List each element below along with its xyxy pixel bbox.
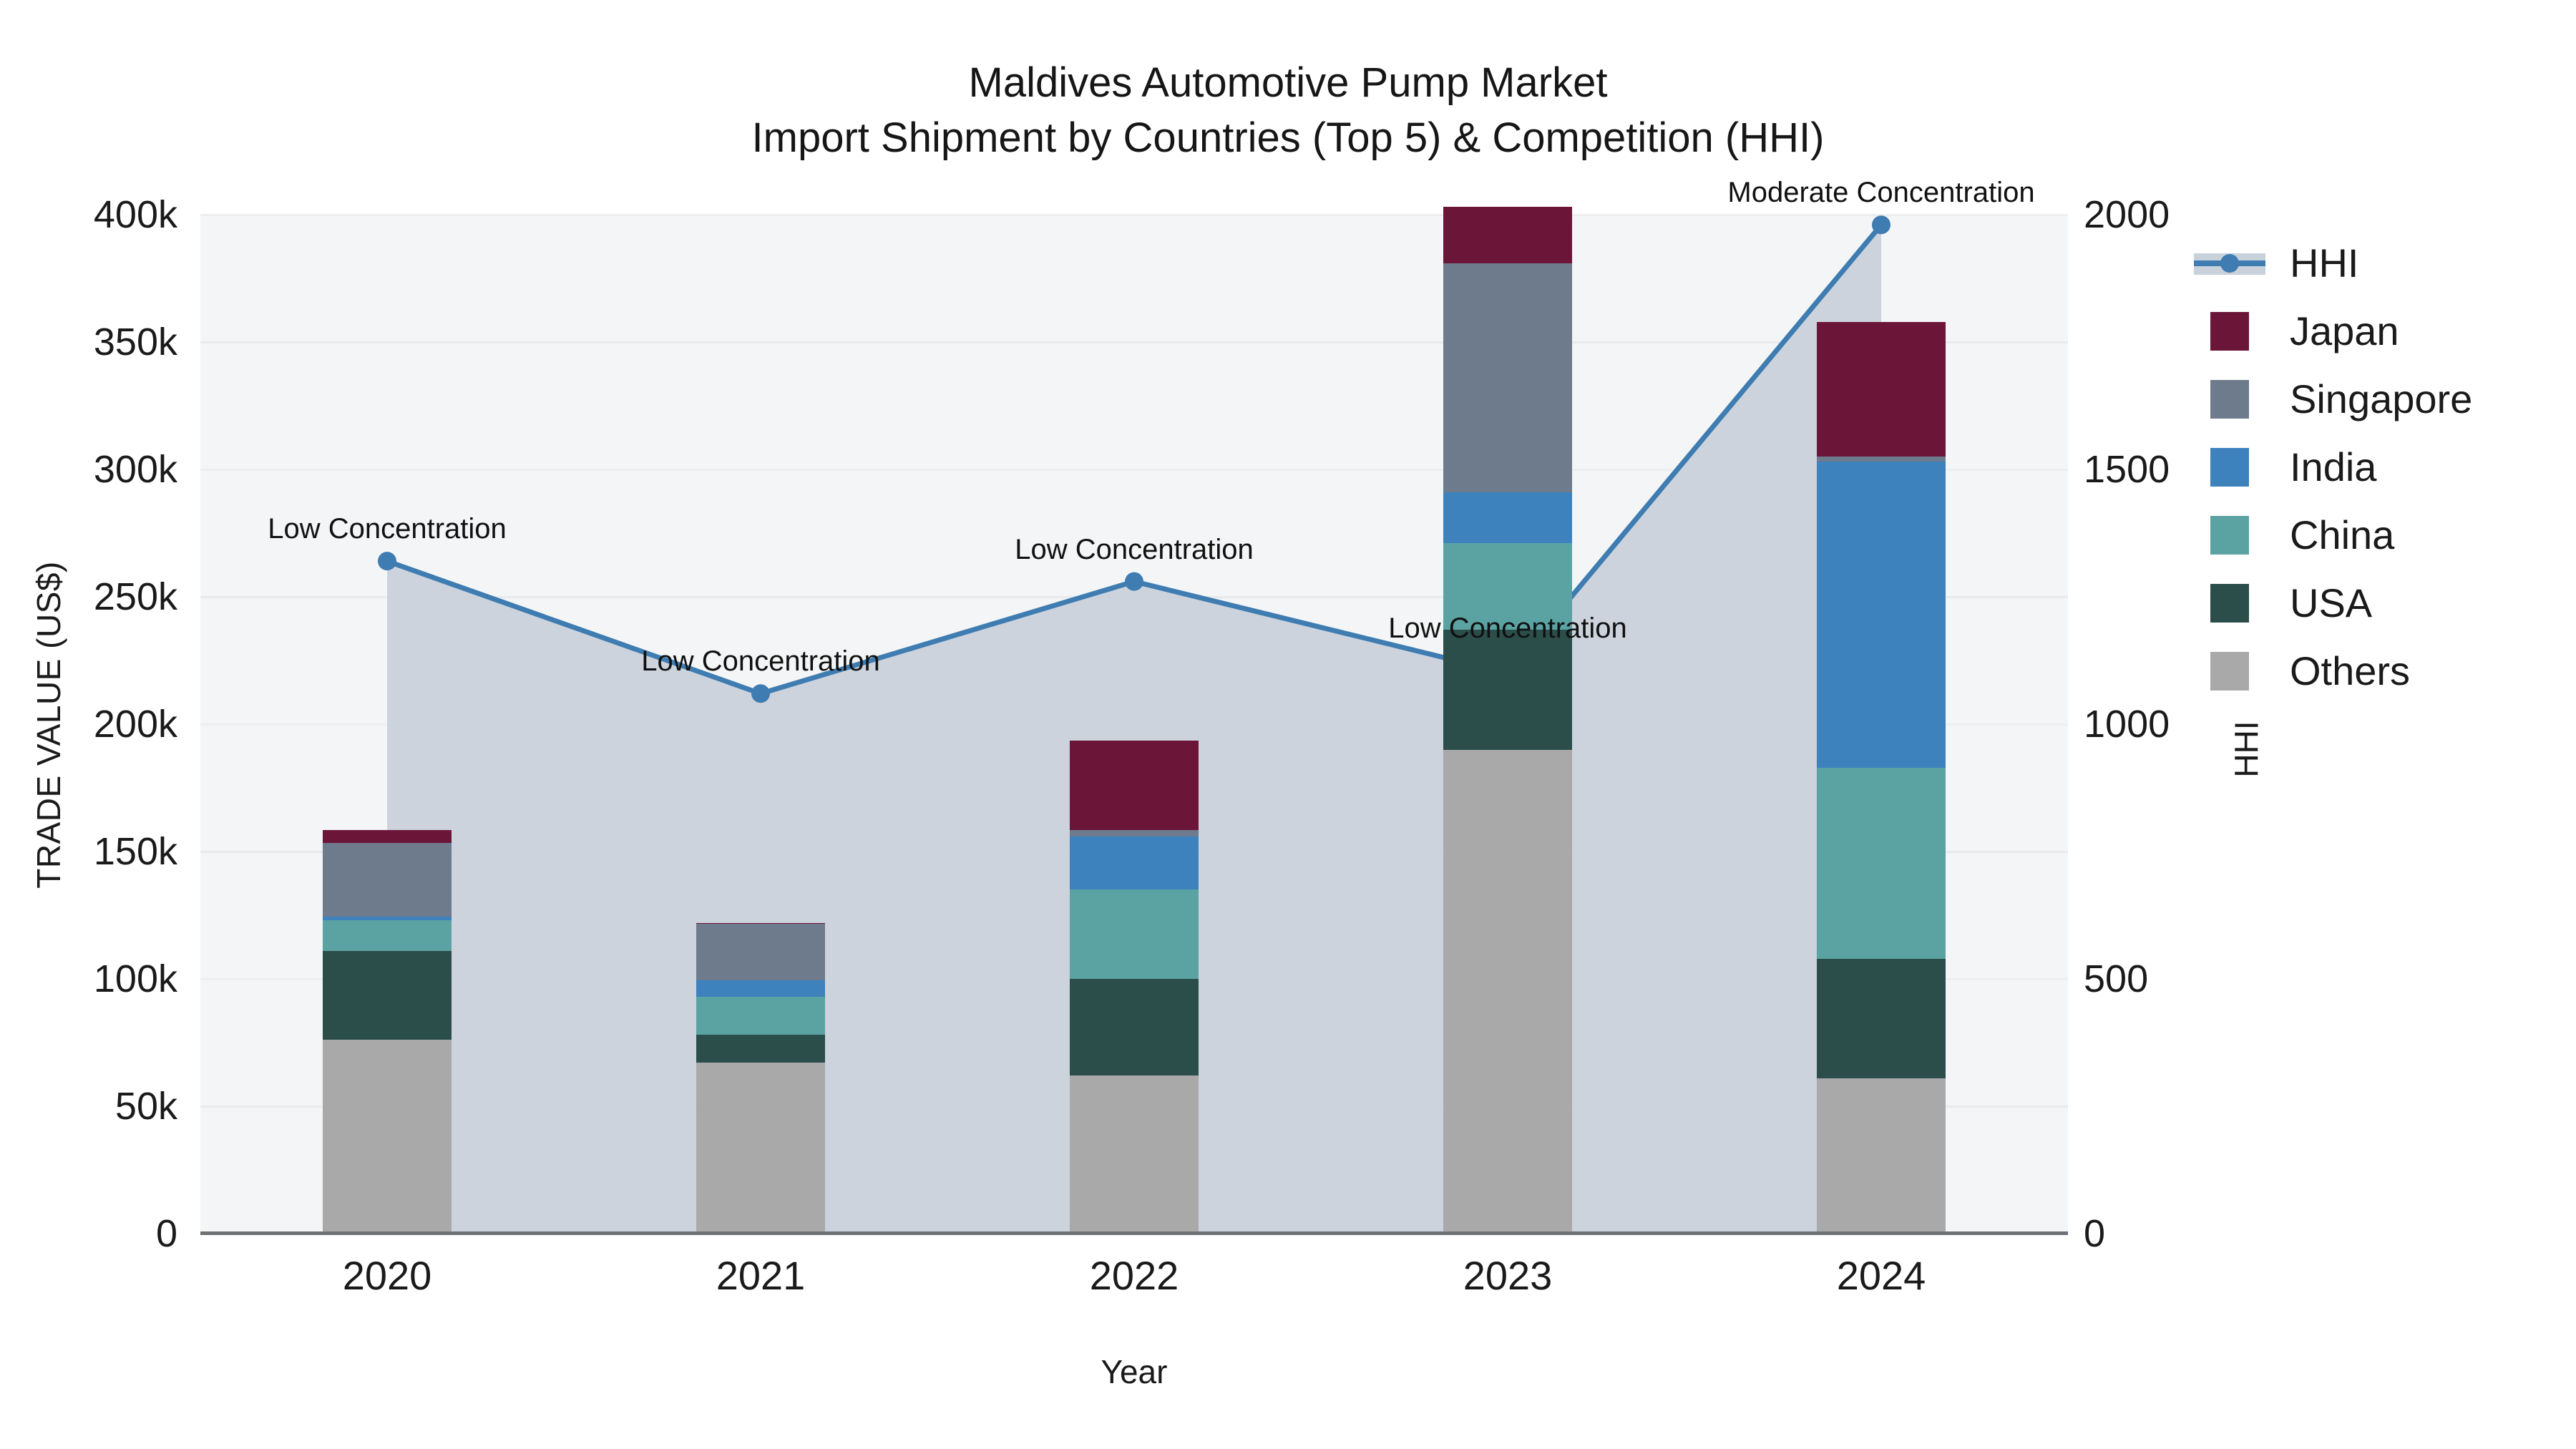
x-axis-line <box>200 1231 2068 1235</box>
x-axis-label: Year <box>200 1352 2068 1391</box>
legend-item-china[interactable]: China <box>2190 501 2576 569</box>
y-axis-right-label: HHI <box>2228 721 2266 777</box>
bar-segment-2023-usa[interactable] <box>1443 630 1572 749</box>
bar-segment-2024-japan[interactable] <box>1817 322 1946 457</box>
bar-segment-2024-india[interactable] <box>1817 462 1946 767</box>
legend-dot-icon <box>2220 254 2239 273</box>
y-tick-left-350000: 350k <box>0 320 177 364</box>
chart-figure: Maldives Automotive Pump Market Import S… <box>0 0 2576 1449</box>
chart-title-line1: Maldives Automotive Pump Market <box>969 59 1608 106</box>
color-swatch-icon <box>2190 582 2270 625</box>
color-swatch-icon <box>2190 650 2270 693</box>
bar-segment-2022-india[interactable] <box>1070 836 1199 890</box>
annotation-2022: Low Concentration <box>1015 534 1254 566</box>
y-axis-left-label: TRADE VALUE (US$) <box>29 474 68 975</box>
legend-label-hhi: HHI <box>2290 240 2358 286</box>
bar-segment-2022-china[interactable] <box>1070 889 1199 979</box>
bar-segment-2022-japan[interactable] <box>1070 741 1199 830</box>
y-tick-left-200000: 200k <box>0 702 177 746</box>
legend-item-others[interactable]: Others <box>2190 637 2576 705</box>
bar-segment-2021-japan[interactable] <box>696 923 825 924</box>
bar-group-2020[interactable] <box>323 215 452 1234</box>
plot-inner <box>200 215 2068 1234</box>
chart-title-line2: Import Shipment by Countries (Top 5) & C… <box>0 111 2576 166</box>
annotation-2021: Low Concentration <box>641 645 880 678</box>
bar-segment-2020-china[interactable] <box>323 920 452 951</box>
bar-segment-2020-japan[interactable] <box>323 830 452 843</box>
swatch-usa <box>2210 584 2249 623</box>
bar-segment-2024-singapore[interactable] <box>1817 457 1946 462</box>
bar-group-2022[interactable] <box>1070 215 1199 1234</box>
y-tick-left-250000: 250k <box>0 575 177 619</box>
bar-segment-2024-usa[interactable] <box>1817 959 1946 1078</box>
bar-segment-2022-others[interactable] <box>1070 1075 1199 1234</box>
color-swatch-icon <box>2190 514 2270 557</box>
y-tick-left-300000: 300k <box>0 447 177 492</box>
bar-segment-2023-japan[interactable] <box>1443 207 1572 263</box>
y-tick-left-50000: 50k <box>0 1084 177 1128</box>
bar-segment-2021-india[interactable] <box>696 980 825 997</box>
bar-segment-2022-usa[interactable] <box>1070 979 1199 1075</box>
legend-label-others: Others <box>2290 648 2410 694</box>
bar-segment-2020-india[interactable] <box>323 917 452 920</box>
annotation-2020: Low Concentration <box>268 513 507 545</box>
bar-segment-2021-usa[interactable] <box>696 1035 825 1063</box>
color-swatch-icon <box>2190 446 2270 489</box>
x-tick-2020: 2020 <box>244 1252 530 1299</box>
legend-item-hhi[interactable]: HHI <box>2190 229 2576 297</box>
bar-group-2024[interactable] <box>1817 215 1946 1234</box>
swatch-china <box>2210 516 2249 555</box>
legend-label-singapore: Singapore <box>2290 376 2472 422</box>
legend-label-india: India <box>2290 444 2376 490</box>
x-tick-2023: 2023 <box>1365 1252 1651 1299</box>
legend-item-japan[interactable]: Japan <box>2190 297 2576 365</box>
bar-segment-2023-singapore[interactable] <box>1443 263 1572 492</box>
y-tick-right-0: 0 <box>2084 1211 2298 1256</box>
y-tick-left-150000: 150k <box>0 829 177 874</box>
legend-item-usa[interactable]: USA <box>2190 569 2576 637</box>
y-tick-right-500: 500 <box>2084 957 2298 1001</box>
line-marker-icon <box>2190 242 2270 285</box>
plot-area <box>200 215 2068 1234</box>
bar-segment-2024-china[interactable] <box>1817 768 1946 959</box>
x-tick-2022: 2022 <box>991 1252 1277 1299</box>
bar-segment-2022-singapore[interactable] <box>1070 830 1199 836</box>
y-tick-left-0: 0 <box>0 1211 177 1256</box>
bar-segment-2024-others[interactable] <box>1817 1078 1946 1234</box>
bar-segment-2023-others[interactable] <box>1443 750 1572 1234</box>
chart-legend: HHIJapanSingaporeIndiaChinaUSAOthers <box>2190 229 2576 705</box>
swatch-others <box>2210 652 2249 691</box>
bar-segment-2021-china[interactable] <box>696 997 825 1035</box>
y-tick-right-1000: 1000 <box>2084 702 2298 746</box>
annotation-2024: Moderate Concentration <box>1727 177 2034 209</box>
color-swatch-icon <box>2190 378 2270 421</box>
bar-segment-2021-others[interactable] <box>696 1063 825 1234</box>
swatch-india <box>2210 448 2249 487</box>
color-swatch-icon <box>2190 310 2270 353</box>
y-tick-left-400000: 400k <box>0 192 177 237</box>
y-tick-left-100000: 100k <box>0 957 177 1001</box>
bar-segment-2020-usa[interactable] <box>323 951 452 1040</box>
x-tick-2024: 2024 <box>1738 1252 2024 1299</box>
chart-title: Maldives Automotive Pump Market Import S… <box>0 56 2576 165</box>
legend-label-usa: USA <box>2290 580 2372 626</box>
bar-segment-2023-india[interactable] <box>1443 492 1572 543</box>
legend-item-singapore[interactable]: Singapore <box>2190 365 2576 433</box>
legend-label-japan: Japan <box>2290 308 2399 354</box>
bar-group-2023[interactable] <box>1443 215 1572 1234</box>
bar-segment-2020-others[interactable] <box>323 1040 452 1234</box>
bar-group-2021[interactable] <box>696 215 825 1234</box>
x-tick-2021: 2021 <box>618 1252 904 1299</box>
legend-label-china: China <box>2290 512 2394 558</box>
bar-segment-2021-singapore[interactable] <box>696 924 825 980</box>
swatch-singapore <box>2210 380 2249 419</box>
legend-item-india[interactable]: India <box>2190 433 2576 501</box>
swatch-japan <box>2210 312 2249 351</box>
annotation-2023: Low Concentration <box>1388 613 1627 645</box>
bar-segment-2020-singapore[interactable] <box>323 843 452 917</box>
